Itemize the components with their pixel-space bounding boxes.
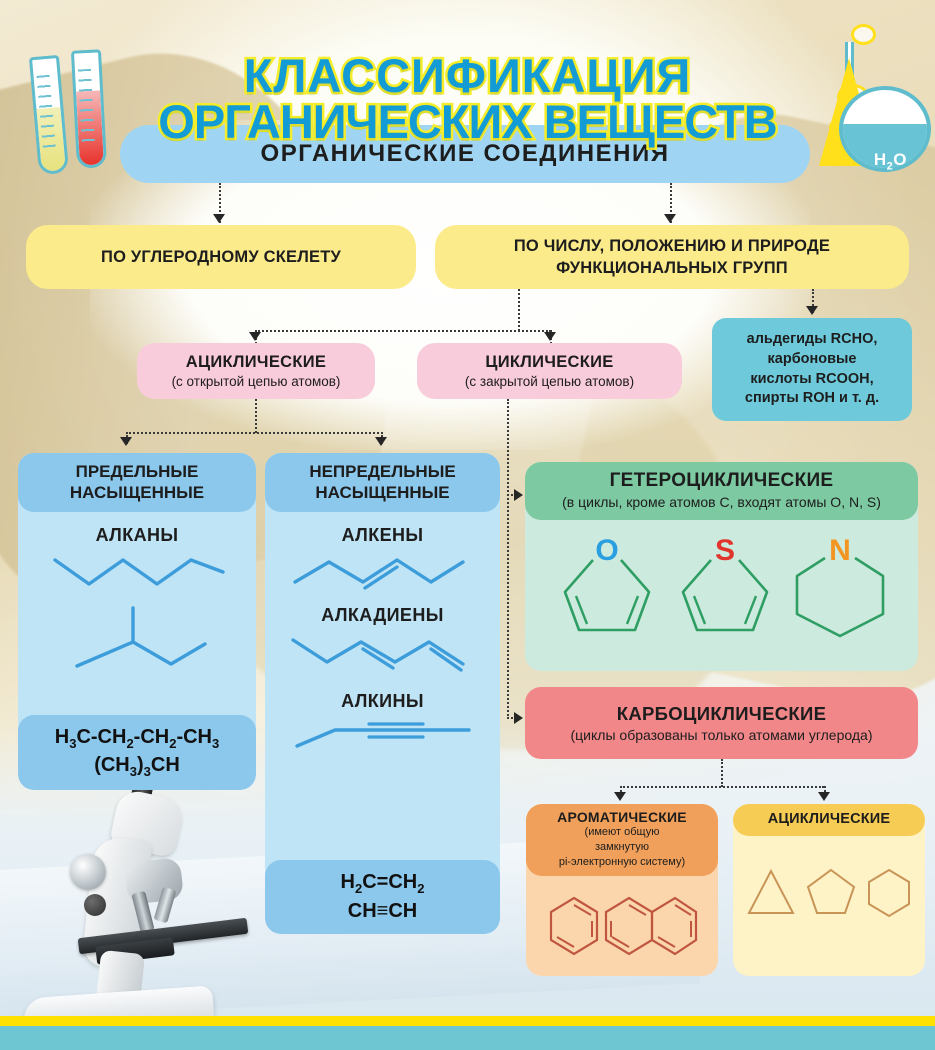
connector-skeleton-bar xyxy=(255,330,551,332)
node-saturated-column[interactable]: ПРЕДЕЛЬНЫЕ НАСЫЩЕННЫЕ АЛКАНЫ H3C-CH2-CH2… xyxy=(18,453,256,790)
connector-acyclic-stem xyxy=(255,399,257,433)
title-line-1: КЛАССИФИКАЦИЯ xyxy=(244,49,692,102)
node-by-functional-groups-label: ПО ЧИСЛУ, ПОЛОЖЕНИЮ И ПРИРОДЕ ФУНКЦИОНАЛ… xyxy=(443,235,901,280)
footer-stripe-teal xyxy=(0,1026,935,1050)
alicyclic-caption: АЦИКЛИЧЕСКИЕ xyxy=(733,804,925,836)
arrowhead-down-icon xyxy=(806,306,818,315)
aromatic-header: АРОМАТИЧЕСКИЕ xyxy=(532,809,712,825)
label-alkynes: АЛКИНЫ xyxy=(341,691,424,712)
node-heterocyclic[interactable]: ГЕТЕРОЦИКЛИЧЕСКИЕ (в циклы, кроме атомов… xyxy=(525,462,918,671)
arrowhead-down-icon xyxy=(375,437,387,446)
formula-butane: H3C-CH2-CH2-CH3 xyxy=(22,724,252,753)
fg-line-2: карбоновые xyxy=(768,350,857,370)
arrowhead-down-icon xyxy=(614,792,626,801)
label-alkadienes: АЛКАДИЕНЫ xyxy=(321,605,444,626)
unsaturated-cap-line2: НАСЫЩЕННЫЕ xyxy=(269,482,496,503)
node-unsaturated-column[interactable]: НЕПРЕДЕЛЬНЫЕ НАСЫЩЕННЫЕ АЛКЕНЫ АЛКАДИЕНЫ… xyxy=(265,453,500,934)
furan-ring-structure: O xyxy=(553,534,661,644)
node-cyclic-sub: (с закрытой цепью атомов) xyxy=(465,374,634,389)
node-acyclic[interactable]: АЦИКЛИЧЕСКИЕ (с открытой цепью атомов) xyxy=(137,343,375,399)
fg-line-1: альдегиды RCHO, xyxy=(747,330,878,350)
label-alkenes: АЛКЕНЫ xyxy=(342,525,424,546)
connector-carbo-stem xyxy=(721,759,723,787)
piperidine-ring-structure: N xyxy=(789,534,891,644)
connector-acyclic-bar xyxy=(126,432,383,434)
saturated-cap-line2: НАСЫЩЕННЫЕ xyxy=(22,482,252,503)
label-alkanes: АЛКАНЫ xyxy=(96,525,179,546)
microscope-fine-knob xyxy=(84,894,106,916)
arrowhead-down-icon xyxy=(818,792,830,801)
saturated-cap-line1: ПРЕДЕЛЬНЫЕ xyxy=(22,461,252,482)
formula-ethyne: CH≡CH xyxy=(269,898,496,925)
carbocyclic-header: КАРБОЦИКЛИЧЕСКИЕ xyxy=(617,703,826,725)
unsaturated-caption: НЕПРЕДЕЛЬНЫЕ НАСЫЩЕННЫЕ xyxy=(265,453,500,512)
arrowhead-down-icon xyxy=(664,214,676,223)
node-alicyclic[interactable]: АЦИКЛИЧЕСКИЕ xyxy=(733,804,925,976)
heterocyclic-sub: (в циклы, кроме атомов C, входят атомы O… xyxy=(533,494,910,510)
heterocyclic-caption: ГЕТЕРОЦИКЛИЧЕСКИЕ (в циклы, кроме атомов… xyxy=(525,462,918,520)
isoalkane-branched-structure xyxy=(37,604,237,676)
connector-skeleton-stem xyxy=(518,289,520,331)
node-by-carbon-skeleton-label: ПО УГЛЕРОДНОМУ СКЕЛЕТУ xyxy=(101,246,341,268)
node-acyclic-sub: (с открытой цепью атомов) xyxy=(172,374,341,389)
arrowhead-down-icon xyxy=(544,332,556,341)
node-acyclic-header: АЦИКЛИЧЕСКИЕ xyxy=(186,353,326,372)
node-carbocyclic[interactable]: КАРБОЦИКЛИЧЕСКИЕ (циклы образованы тольк… xyxy=(525,687,918,759)
aromatic-caption: АРОМАТИЧЕСКИЕ (имеют общую замкнутую pi-… xyxy=(526,804,718,876)
arrowhead-right-icon xyxy=(514,712,523,724)
alicyclic-header: АЦИКЛИЧЕСКИЕ xyxy=(768,811,891,827)
arrowhead-down-icon xyxy=(213,214,225,223)
cyclohexane-hexagon-structure xyxy=(865,866,913,918)
cyclopentane-pentagon-structure xyxy=(805,866,857,918)
svg-text:O: O xyxy=(595,534,618,567)
fg-line-4: спирты ROH и т. д. xyxy=(745,389,879,409)
arrowhead-down-icon xyxy=(120,437,132,446)
microscope-coarse-knob xyxy=(70,854,106,890)
carbocyclic-sub: (циклы образованы только атомами углерод… xyxy=(571,727,873,743)
alkene-chain-structure xyxy=(283,550,483,592)
node-aromatic[interactable]: АРОМАТИЧЕСКИЕ (имеют общую замкнутую pi-… xyxy=(526,804,718,976)
poster-root: H2O КЛАССИФИКАЦИЯ ОРГАНИЧЕСКИХ ВЕЩЕСТВ О… xyxy=(0,0,935,1050)
alkane-formulas: H3C-CH2-CH2-CH3 (CH3)3CH xyxy=(18,715,256,790)
unsaturated-cap-line1: НЕПРЕДЕЛЬНЫЕ xyxy=(269,461,496,482)
alkene-alkyne-formulas: H2C=CH2 CH≡CH xyxy=(265,860,500,934)
alkyne-chain-structure xyxy=(283,716,483,758)
benzene-ring-structure xyxy=(547,894,601,958)
svg-text:N: N xyxy=(829,534,851,567)
heterocyclic-header: ГЕТЕРОЦИКЛИЧЕСКИЕ xyxy=(533,470,910,492)
fg-line-3: кислоты RCOOH, xyxy=(750,370,873,390)
title-line-2: ОРГАНИЧЕСКИХ ВЕЩЕСТВ xyxy=(0,99,935,146)
connector-cyclic-stem xyxy=(507,399,509,719)
aromatic-ring-row xyxy=(526,894,718,958)
alkadiene-chain-structure xyxy=(283,630,483,678)
aromatic-sub-1: (имеют общую xyxy=(532,826,712,840)
alicyclic-shape-row xyxy=(733,866,925,918)
node-functional-group-examples[interactable]: альдегиды RCHO, карбоновые кислоты RCOOH… xyxy=(712,318,912,421)
svg-text:S: S xyxy=(714,534,734,567)
node-cyclic[interactable]: ЦИКЛИЧЕСКИЕ (с закрытой цепью атомов) xyxy=(417,343,682,399)
node-cyclic-header: ЦИКЛИЧЕСКИЕ xyxy=(485,353,613,372)
saturated-caption: ПРЕДЕЛЬНЫЕ НАСЫЩЕННЫЕ xyxy=(18,453,256,512)
aromatic-sub-2: замкнутую xyxy=(532,841,712,855)
node-by-carbon-skeleton[interactable]: ПО УГЛЕРОДНОМУ СКЕЛЕТУ xyxy=(26,225,416,289)
node-by-functional-groups[interactable]: ПО ЧИСЛУ, ПОЛОЖЕНИЮ И ПРИРОДЕ ФУНКЦИОНАЛ… xyxy=(435,225,909,289)
footer-stripe-yellow xyxy=(0,1016,935,1026)
formula-ethene: H2C=CH2 xyxy=(269,869,496,898)
connector-carbo-bar xyxy=(620,786,824,788)
naphthalene-ring-structure xyxy=(605,894,697,958)
heterocyclic-ring-row: O S N xyxy=(525,534,918,644)
alkane-chain-structure xyxy=(37,550,237,598)
page-title: КЛАССИФИКАЦИЯ ОРГАНИЧЕСКИХ ВЕЩЕСТВ xyxy=(0,6,935,192)
thiophene-ring-structure: S xyxy=(671,534,779,644)
arrowhead-right-icon xyxy=(514,489,523,501)
arrowhead-down-icon xyxy=(249,332,261,341)
aromatic-sub-3: pi-электронную систему) xyxy=(532,856,712,870)
formula-isobutane: (CH3)3CH xyxy=(22,752,252,781)
cyclopropane-triangle-structure xyxy=(745,866,797,918)
